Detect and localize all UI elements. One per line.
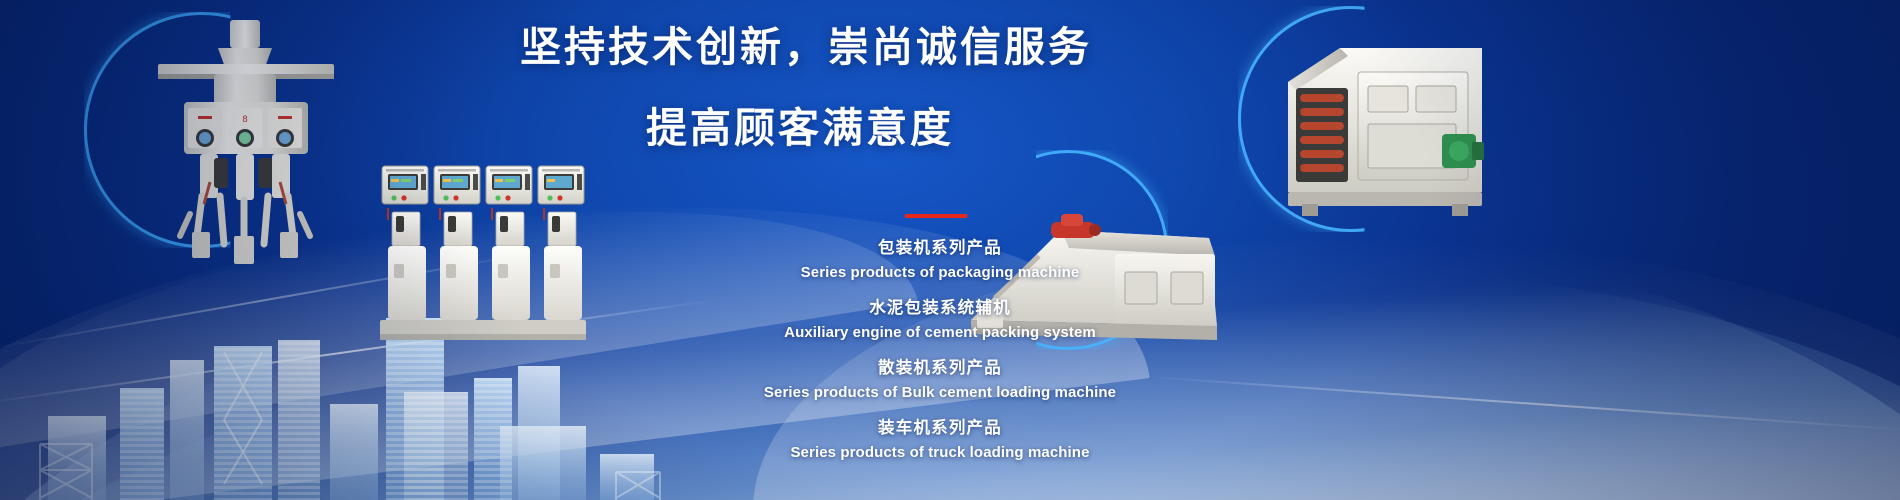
glow-ring-right-icon xyxy=(1238,6,1464,232)
product-name-cn: 水泥包装系统辅机 xyxy=(560,296,1320,321)
product-name-en: Series products of Bulk cement loading m… xyxy=(560,381,1320,404)
list-item: 水泥包装系统辅机 Auxiliary engine of cement pack… xyxy=(560,296,1320,344)
headline-line-2: 提高顾客满意度 xyxy=(520,107,1080,150)
list-item: 包装机系列产品 Series products of packaging mac… xyxy=(560,236,1320,284)
hairline-streak-b xyxy=(0,251,536,350)
glow-ring-left-icon xyxy=(84,12,320,248)
product-name-en: Auxiliary engine of cement packing syste… xyxy=(560,321,1320,344)
product-name-cn: 散装机系列产品 xyxy=(560,356,1320,381)
accent-divider xyxy=(905,214,967,218)
headline-block: 坚持技术创新，崇尚诚信服务 提高顾客满意度 xyxy=(520,26,1080,150)
list-item: 散装机系列产品 Series products of Bulk cement l… xyxy=(560,356,1320,404)
svg-text:8: 8 xyxy=(242,115,248,125)
promotional-banner: 8 xyxy=(0,0,1900,500)
headline-line-1: 坚持技术创新，崇尚诚信服务 xyxy=(520,26,1080,69)
rotary-packing-machine-image: 8 xyxy=(140,18,350,268)
product-name-en: Series products of packaging machine xyxy=(560,261,1320,284)
product-list: 包装机系列产品 Series products of packaging mac… xyxy=(560,236,1320,476)
packing-line-machine-image xyxy=(378,160,588,342)
auxiliary-machine-image xyxy=(1282,42,1488,220)
list-item: 装车机系列产品 Series products of truck loading… xyxy=(560,416,1320,464)
product-name-cn: 包装机系列产品 xyxy=(560,236,1320,261)
product-name-cn: 装车机系列产品 xyxy=(560,416,1320,441)
product-name-en: Series products of truck loading machine xyxy=(560,441,1320,464)
